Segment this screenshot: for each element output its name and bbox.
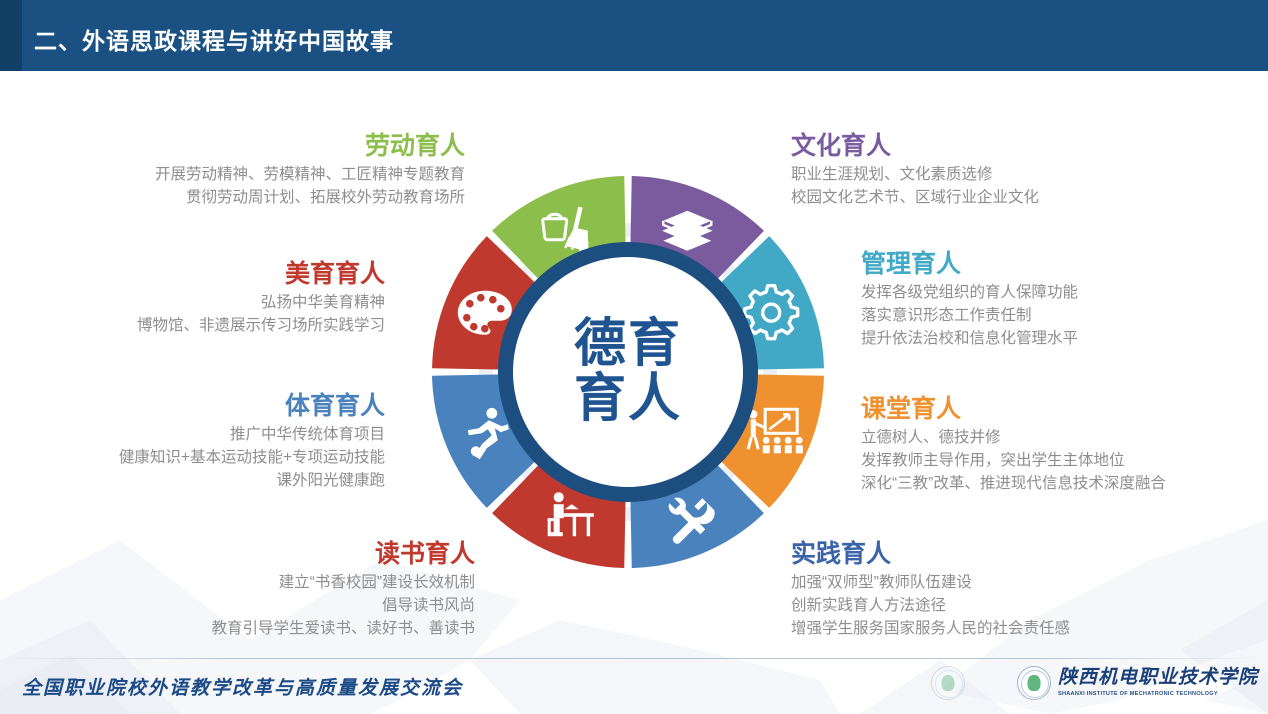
label-classroom-line-3: 深化“三教”改革、推进现代信息技术深度融合 bbox=[861, 473, 1268, 496]
label-aesthetic-line-2: 博物馆、非遗展示传习场所实践学习 bbox=[10, 315, 385, 338]
label-physical-line-3: 课外阳光健康跑 bbox=[10, 470, 385, 493]
label-practice: 实践育人 加强“双师型”教师队伍建设 创新实践育人方法途径 增强学生服务国家服务… bbox=[791, 539, 1211, 641]
label-classroom-line-1: 立德树人、德技并修 bbox=[861, 427, 1268, 450]
label-labor-lines: 开展劳动精神、劳模精神、工匠精神专题教育 贯彻劳动周计划、拓展校外劳动教育场所 bbox=[10, 164, 465, 210]
label-practice-line-1: 加强“双师型”教师队伍建设 bbox=[791, 572, 1211, 595]
slide-footer: 全国职业院校外语教学改革与高质量发展交流会 陕西机电职业技术学院 SHAANXI… bbox=[0, 658, 1268, 714]
label-aesthetic-line-1: 弘扬中华美育精神 bbox=[10, 292, 385, 315]
institution-logo: 陕西机电职业技术学院 SHAANXI INSTITUTE OF MECHATRO… bbox=[1017, 666, 1258, 700]
label-physical-line-2: 健康知识+基本运动技能+专项运动技能 bbox=[10, 447, 385, 470]
label-labor: 劳动育人 开展劳动精神、劳模精神、工匠精神专题教育 贯彻劳动周计划、拓展校外劳动… bbox=[10, 131, 465, 210]
label-classroom: 课堂育人 立德树人、德技并修 发挥教师主导作用，突出学生主体地位 深化“三教”改… bbox=[861, 394, 1268, 496]
label-physical-lines: 推广中华传统体育项目 健康知识+基本运动技能+专项运动技能 课外阳光健康跑 bbox=[10, 424, 385, 492]
label-reading-line-3: 教育引导学生爱读书、读好书、善读书 bbox=[10, 618, 475, 641]
label-practice-line-2: 创新实践育人方法途径 bbox=[791, 595, 1211, 618]
hub-text-line1: 德育 bbox=[574, 317, 682, 372]
conference-title: 全国职业院校外语教学改革与高质量发展交流会 bbox=[22, 673, 463, 700]
label-classroom-line-2: 发挥教师主导作用，突出学生主体地位 bbox=[861, 450, 1268, 473]
label-physical-line-1: 推广中华传统体育项目 bbox=[10, 424, 385, 447]
label-labor-title: 劳动育人 bbox=[10, 131, 465, 162]
hub-text-line2: 育人 bbox=[574, 372, 682, 427]
institution-seal-icon bbox=[1017, 666, 1051, 700]
label-reading-line-2: 倡导读书风尚 bbox=[10, 595, 475, 618]
label-culture-lines: 职业生涯规划、文化素质选修 校园文化艺术节、区域行业企业文化 bbox=[791, 164, 1191, 210]
institution-name-cn: 陕西机电职业技术学院 bbox=[1058, 668, 1258, 689]
page-title: 二、外语思政课程与讲好中国故事 bbox=[34, 22, 394, 56]
label-labor-line-1: 开展劳动精神、劳模精神、工匠精神专题教育 bbox=[10, 164, 465, 187]
footer-divider bbox=[0, 658, 1268, 659]
label-culture-line-2: 校园文化艺术节、区域行业企业文化 bbox=[791, 187, 1191, 210]
label-classroom-lines: 立德树人、德技并修 发挥教师主导作用，突出学生主体地位 深化“三教”改革、推进现… bbox=[861, 427, 1268, 495]
label-practice-title: 实践育人 bbox=[791, 539, 1211, 570]
slide-header: 二、外语思政课程与讲好中国故事 bbox=[0, 0, 1268, 74]
label-manage-line-2: 落实意识形态工作责任制 bbox=[861, 305, 1261, 328]
seal-core-shape bbox=[941, 675, 954, 691]
label-practice-line-3: 增强学生服务国家服务人民的社会责任感 bbox=[791, 618, 1211, 641]
label-reading: 读书育人 建立“书香校园”建设长效机制 倡导读书风尚 教育引导学生爱读书、读好书… bbox=[10, 539, 475, 641]
label-physical-title: 体育育人 bbox=[10, 391, 385, 422]
header-accent-bar bbox=[0, 0, 22, 71]
label-manage-title: 管理育人 bbox=[861, 249, 1261, 280]
label-aesthetic: 美育育人 弘扬中华美育精神 博物馆、非遗展示传习场所实践学习 bbox=[10, 259, 385, 338]
label-culture-line-1: 职业生涯规划、文化素质选修 bbox=[791, 164, 1191, 187]
secondary-seal-icon bbox=[931, 666, 965, 700]
label-aesthetic-lines: 弘扬中华美育精神 博物馆、非遗展示传习场所实践学习 bbox=[10, 292, 385, 338]
footer-logos: 陕西机电职业技术学院 SHAANXI INSTITUTE OF MECHATRO… bbox=[931, 666, 1258, 700]
label-labor-line-2: 贯彻劳动周计划、拓展校外劳动教育场所 bbox=[10, 187, 465, 210]
label-manage-lines: 发挥各级党组织的育人保障功能 落实意识形态工作责任制 提升依法治校和信息化管理水… bbox=[861, 282, 1261, 350]
wheel-hub: 德育 育人 bbox=[498, 242, 758, 502]
institution-name-block: 陕西机电职业技术学院 SHAANXI INSTITUTE OF MECHATRO… bbox=[1058, 668, 1258, 698]
slide-canvas: 二、外语思政课程与讲好中国故事 bbox=[0, 0, 1268, 714]
label-practice-lines: 加强“双师型”教师队伍建设 创新实践育人方法途径 增强学生服务国家服务人民的社会… bbox=[791, 572, 1211, 640]
label-manage: 管理育人 发挥各级党组织的育人保障功能 落实意识形态工作责任制 提升依法治校和信… bbox=[861, 249, 1261, 351]
label-reading-lines: 建立“书香校园”建设长效机制 倡导读书风尚 教育引导学生爱读书、读好书、善读书 bbox=[10, 572, 475, 640]
label-culture-title: 文化育人 bbox=[791, 131, 1191, 162]
label-manage-line-3: 提升依法治校和信息化管理水平 bbox=[861, 328, 1261, 351]
label-reading-line-1: 建立“书香校园”建设长效机制 bbox=[10, 572, 475, 595]
label-reading-title: 读书育人 bbox=[10, 539, 475, 570]
label-aesthetic-title: 美育育人 bbox=[10, 259, 385, 290]
institution-name-en: SHAANXI INSTITUTE OF MECHATRONIC TECHNOL… bbox=[1058, 691, 1258, 698]
label-classroom-title: 课堂育人 bbox=[861, 394, 1268, 425]
label-manage-line-1: 发挥各级党组织的育人保障功能 bbox=[861, 282, 1261, 305]
seal-core-shape bbox=[1027, 675, 1040, 691]
label-culture: 文化育人 职业生涯规划、文化素质选修 校园文化艺术节、区域行业企业文化 bbox=[791, 131, 1191, 210]
label-physical: 体育育人 推广中华传统体育项目 健康知识+基本运动技能+专项运动技能 课外阳光健… bbox=[10, 391, 385, 493]
